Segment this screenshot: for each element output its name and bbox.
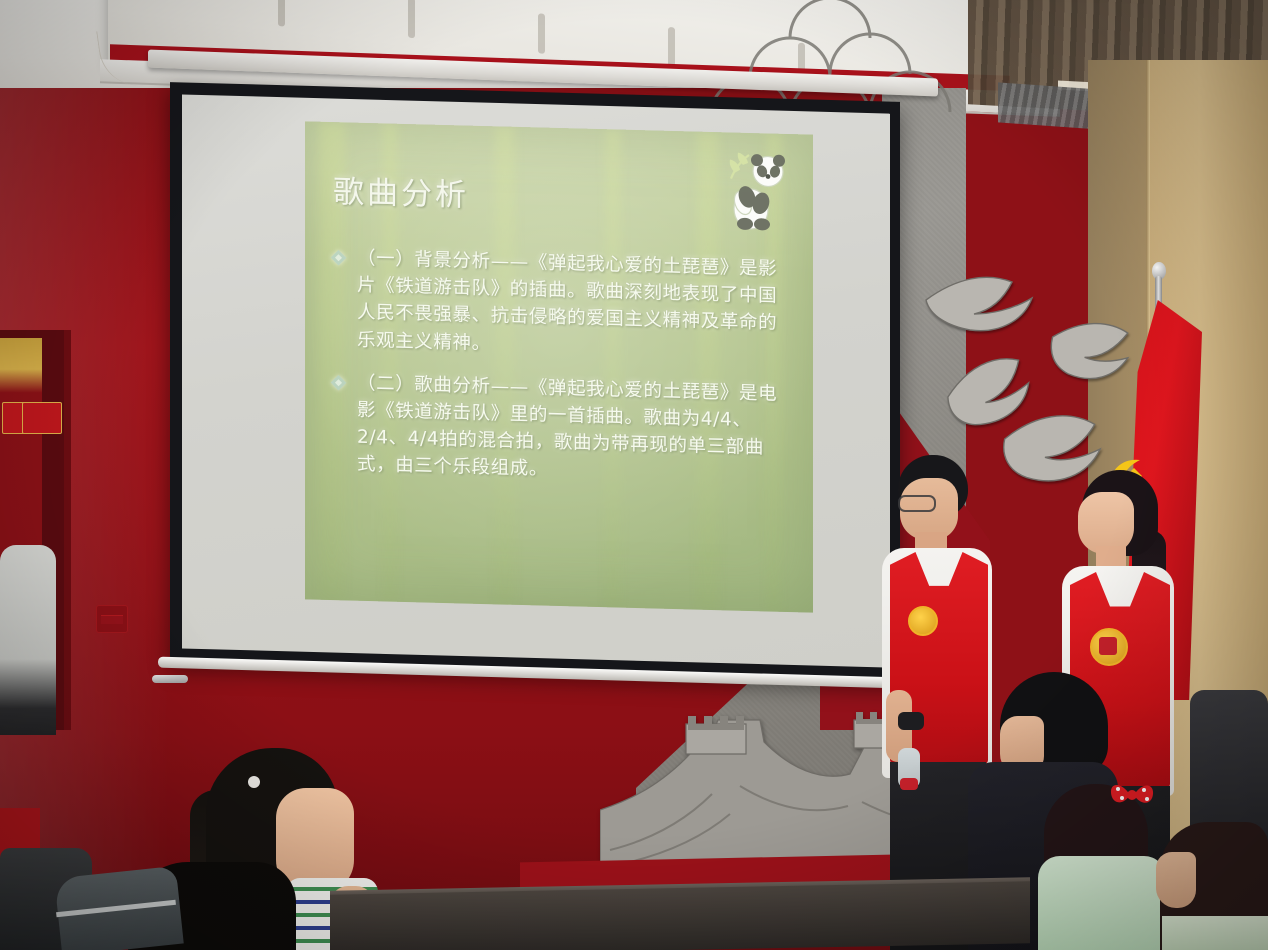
child-right-dress [1162,916,1268,950]
slide-bullet-list: （一）背景分析——《弹起我心爱的土琵琶》是影片《铁道游击队》的插曲。歌曲深刻地表… [329,244,795,506]
polka-dot-bow-icon [1108,778,1156,812]
room-background: 歌曲分析 [0,0,1268,950]
wristwatch-icon [898,712,924,730]
bullet-text: （二）歌曲分析——《弹起我心爱的土琵琶》是电影《铁道游击队》里的一首插曲。歌曲为… [357,369,795,489]
vest-emblem-icon [1090,628,1128,666]
panda-with-bamboo-icon [721,146,799,234]
hair-clip-icon [248,776,260,788]
list-item: （二）歌曲分析——《弹起我心爱的土琵琶》是电影《铁道游击队》里的一首插曲。歌曲为… [329,369,795,490]
water-bottle-cap [900,778,918,790]
vest-emblem-icon [908,606,938,636]
bullet-text: （一）背景分析——《弹起我心爱的土琵琶》是影片《铁道游击队》的插曲。歌曲深刻地表… [357,245,795,365]
child-right-face [1156,852,1196,908]
eyeglasses-icon [898,495,936,512]
photo-scene: 歌曲分析 [0,0,1268,950]
wall-switch-icon[interactable] [96,605,128,633]
child-with-bow-dress [1038,856,1166,950]
person-in-doorway [0,545,56,735]
diamond-bullet-icon [331,375,347,391]
presentation-slide: 歌曲分析 [305,121,813,612]
slide-title: 歌曲分析 [333,166,469,215]
volunteer-female-face [1078,492,1134,554]
door-handle-icon[interactable] [152,675,188,683]
cabinet-red-box [22,402,62,434]
list-item: （一）背景分析——《弹起我心爱的土琵琶》是影片《铁道游击队》的插曲。歌曲深刻地表… [329,244,795,365]
diamond-bullet-icon [331,250,347,266]
